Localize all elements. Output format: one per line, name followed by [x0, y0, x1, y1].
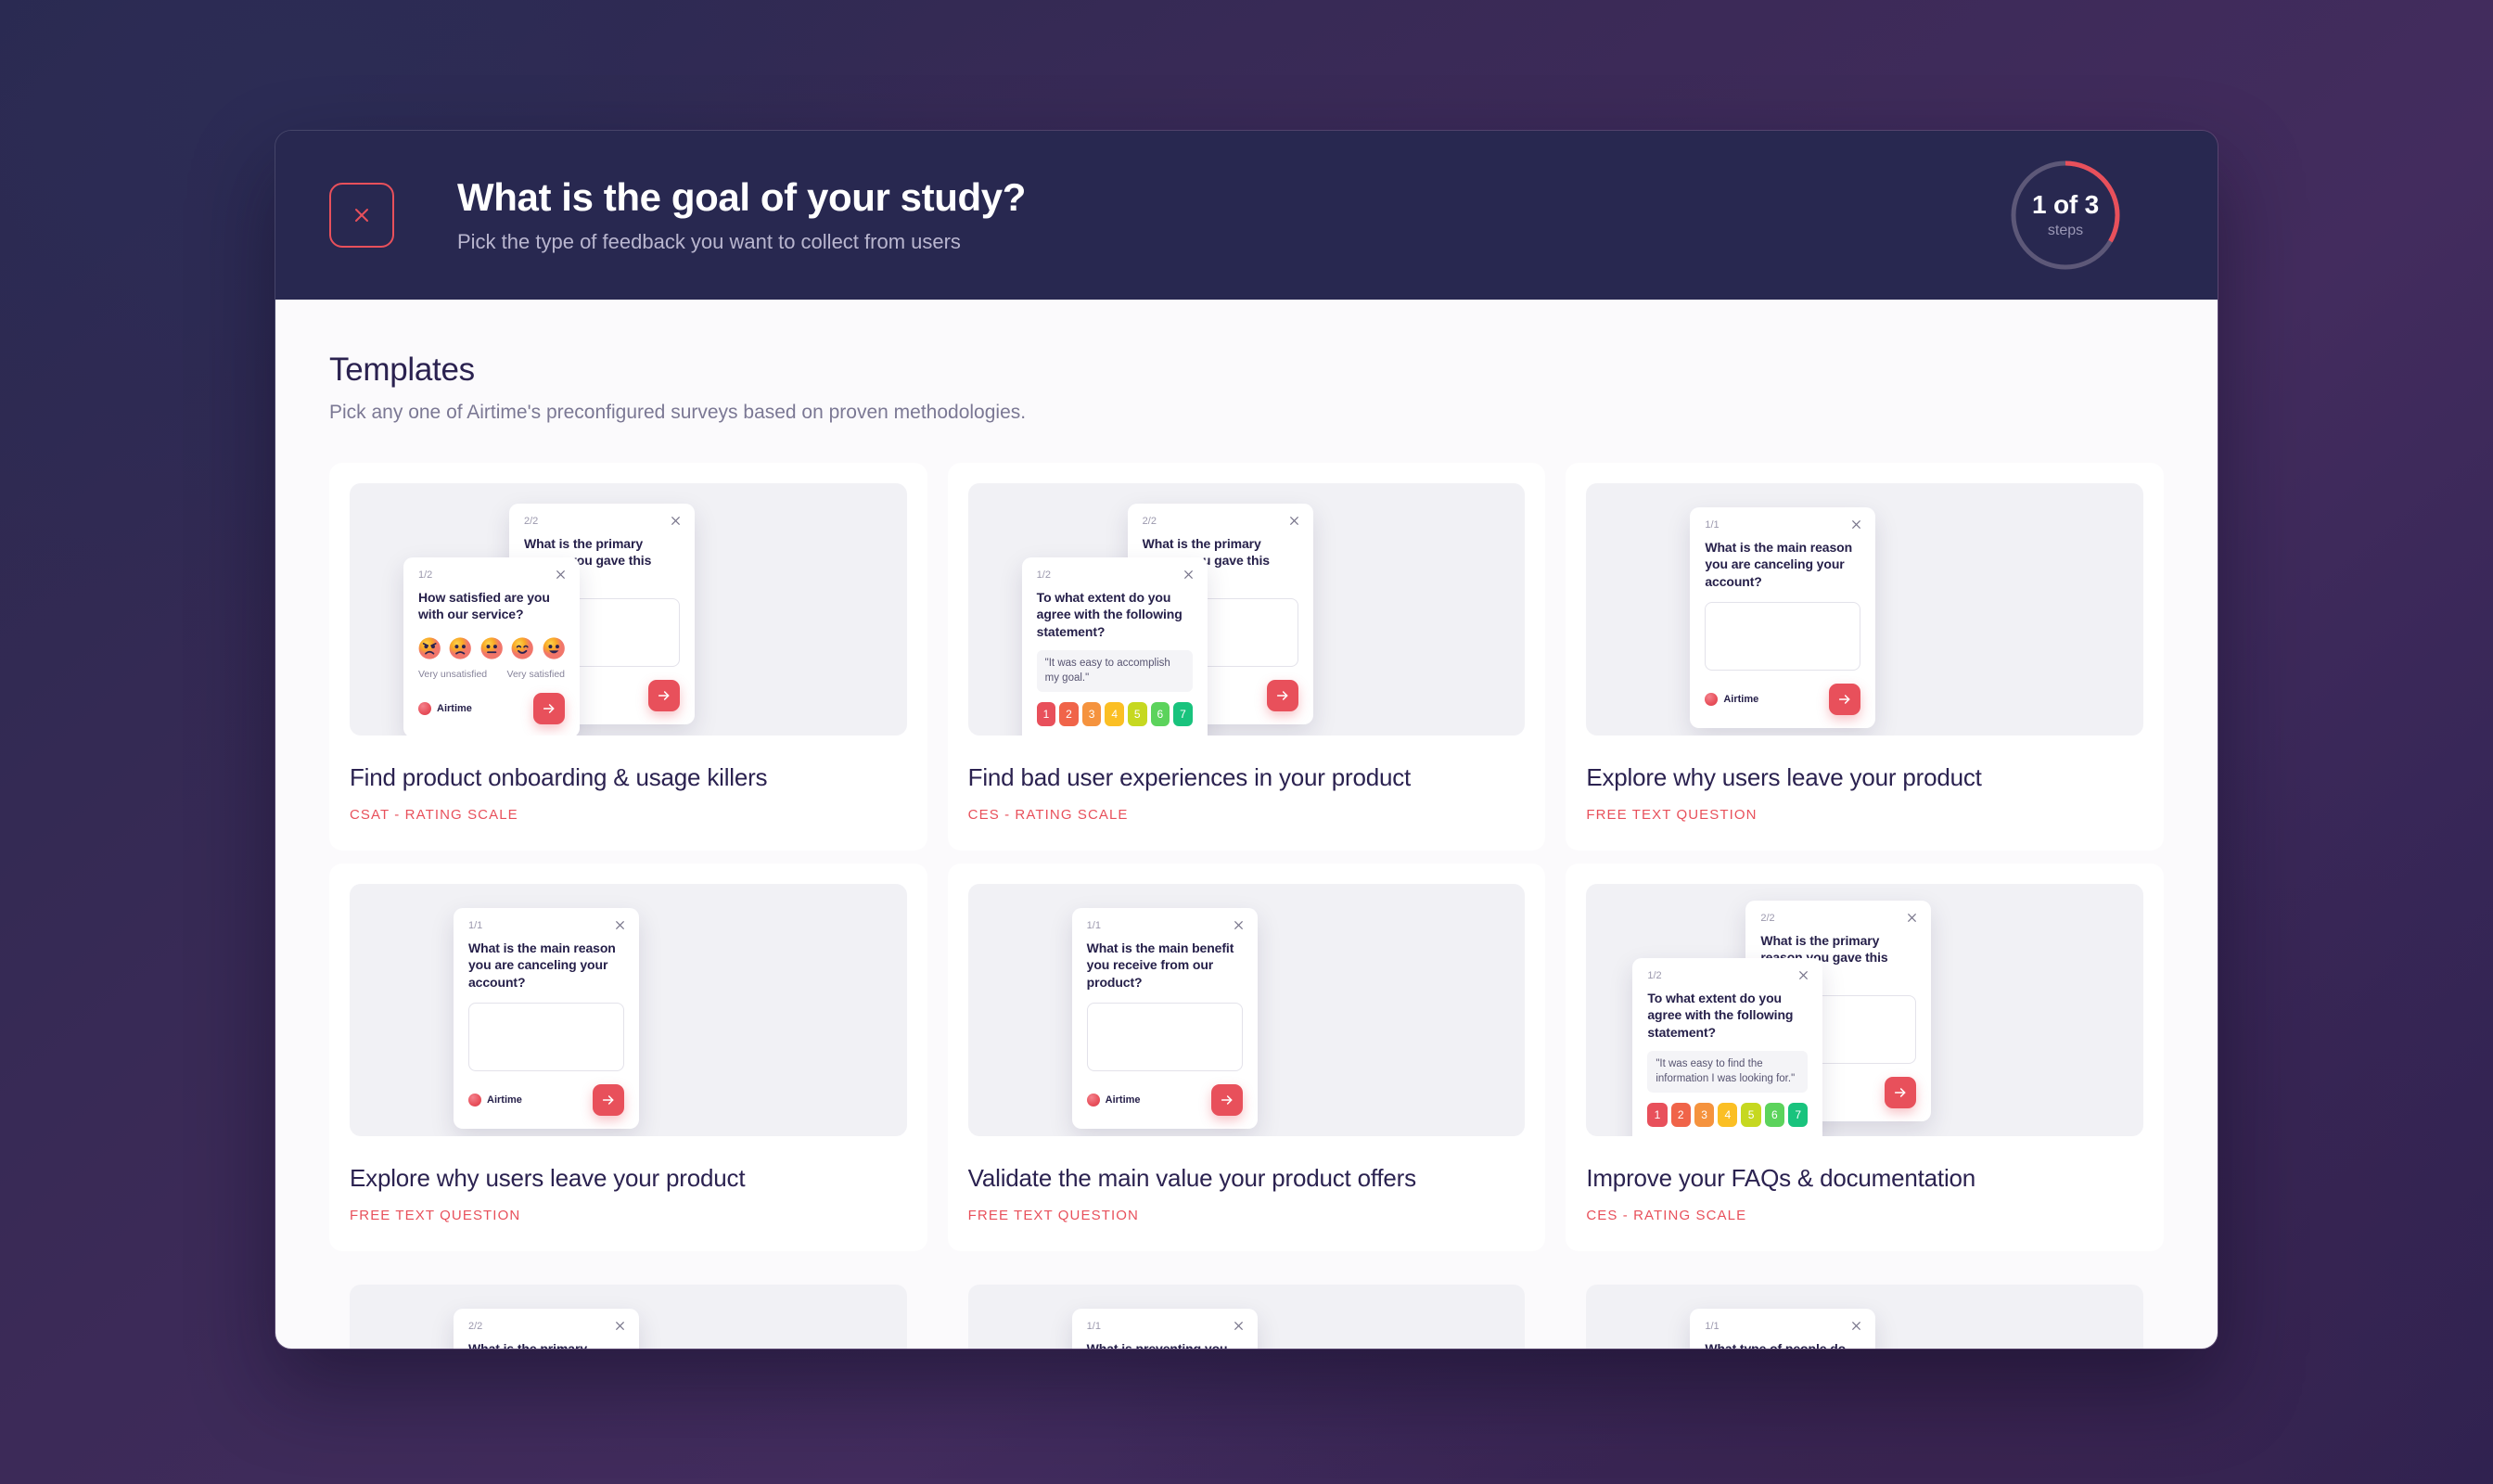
scale-low-label: Strongly disagree	[1037, 735, 1113, 736]
brand-name: Airtime	[487, 1094, 522, 1106]
template-grid: 2/2What is the primary reason you gave t…	[329, 463, 2164, 1349]
mini-card-step: 1/2	[1647, 971, 1808, 981]
template-tag: CSAT - RATING SCALE	[350, 807, 907, 823]
mini-card-step: 1/1	[1087, 1322, 1243, 1332]
arrow-right-icon	[657, 688, 671, 703]
rating-option-1[interactable]: 1	[1647, 1103, 1667, 1127]
template-preview: 2/2What is the primary reason you gave t…	[350, 1285, 907, 1349]
airtime-brand: Airtime	[1705, 693, 1758, 706]
mini-card-step: 2/2	[1760, 914, 1916, 924]
rating-option-7[interactable]: 7	[1788, 1103, 1808, 1127]
template-card[interactable]: 2/2What is the primary reason you gave t…	[948, 463, 1546, 851]
template-tag: FREE TEXT QUESTION	[968, 1208, 1526, 1223]
close-button[interactable]	[329, 183, 394, 248]
ces-scale-captions: Strongly disagreeStrongly agree	[1647, 1135, 1808, 1136]
template-tag: FREE TEXT QUESTION	[1586, 807, 2143, 823]
mini-card-question: What is the main benefit you receive fro…	[1087, 940, 1243, 991]
mini-card-question: What is the primary reason you gave this…	[468, 1340, 624, 1349]
ces-rating-scale[interactable]: 1234567	[1647, 1103, 1808, 1127]
close-icon[interactable]	[1906, 912, 1918, 924]
next-button[interactable]	[1829, 684, 1860, 715]
rating-option-3[interactable]: 3	[1694, 1103, 1714, 1127]
mini-card-question: What type of people do you think would m…	[1705, 1340, 1860, 1349]
rating-option-5[interactable]: 5	[1741, 1103, 1760, 1127]
next-button[interactable]	[648, 680, 680, 711]
template-preview: 2/2What is the primary reason you gave t…	[350, 483, 907, 736]
close-icon	[351, 204, 373, 226]
modal-body: Templates Pick any one of Airtime's prec…	[275, 300, 2218, 1349]
answer-textarea[interactable]	[1087, 1003, 1243, 1071]
mini-card-footer: Airtime	[418, 693, 565, 724]
mini-card-footer: Airtime	[1087, 1084, 1243, 1116]
close-icon[interactable]	[1183, 569, 1195, 581]
brand-name: Airtime	[437, 703, 472, 714]
template-preview: 1/1What is the main reason you are cance…	[350, 884, 907, 1136]
airtime-brand: Airtime	[418, 702, 472, 715]
csat-emoji-scale[interactable]	[418, 636, 565, 660]
ces-statement: "It was easy to accomplish my goal."	[1037, 650, 1193, 692]
mini-survey-card[interactable]: 1/1What is preventing you from upgrading…	[1072, 1309, 1258, 1349]
answer-textarea[interactable]	[468, 1003, 624, 1071]
close-icon[interactable]	[614, 1320, 626, 1332]
template-card[interactable]: 1/1What is the main reason you are cance…	[1566, 463, 2164, 851]
template-preview: 2/2What is the primary reason you gave t…	[968, 483, 1526, 736]
scale-high-label: Very satisfied	[507, 669, 565, 680]
step-progress-ring: 1 of 3 steps	[2006, 156, 2125, 275]
close-icon[interactable]	[1233, 1320, 1245, 1332]
mini-survey-card[interactable]: 1/1What is the main reason you are cance…	[454, 908, 639, 1129]
page-subtitle: Pick the type of feedback you want to co…	[457, 230, 2164, 254]
rating-option-2[interactable]: 2	[1059, 702, 1079, 726]
rating-option-4[interactable]: 4	[1718, 1103, 1737, 1127]
emoji-smiling-icon[interactable]	[511, 636, 533, 660]
mini-card-step: 2/2	[468, 1322, 624, 1332]
airtime-logo-icon	[1705, 693, 1718, 706]
step-count-label: 1 of 3	[2032, 192, 2099, 218]
scale-low-label: Strongly disagree	[1647, 1135, 1723, 1136]
template-title: Improve your FAQs & documentation	[1586, 1164, 2143, 1193]
template-preview: 1/1What is the main benefit you receive …	[968, 884, 1526, 1136]
mini-card-step: 1/1	[1705, 520, 1860, 531]
close-icon[interactable]	[670, 515, 682, 527]
close-icon[interactable]	[555, 569, 567, 581]
template-card[interactable]: 1/1What is the main reason you are cance…	[329, 864, 927, 1251]
close-icon[interactable]	[614, 919, 626, 931]
airtime-logo-icon	[418, 702, 431, 715]
rating-option-4[interactable]: 4	[1105, 702, 1124, 726]
template-title: Find product onboarding & usage killers	[350, 763, 907, 792]
rating-option-6[interactable]: 6	[1765, 1103, 1784, 1127]
template-card[interactable]: 1/1What is the main benefit you receive …	[948, 864, 1546, 1251]
next-button[interactable]	[1267, 680, 1298, 711]
mini-survey-card[interactable]: 1/2To what extent do you agree with the …	[1022, 557, 1208, 736]
emoji-angry-icon[interactable]	[418, 636, 441, 660]
csat-scale-captions: Very unsatisfiedVery satisfied	[418, 669, 565, 680]
template-card[interactable]: 1/1What type of people do you think woul…	[1566, 1264, 2164, 1349]
mini-survey-card[interactable]: 1/1What is the main benefit you receive …	[1072, 908, 1258, 1129]
template-title: Validate the main value your product off…	[968, 1164, 1526, 1193]
page-title: What is the goal of your study?	[457, 175, 2164, 220]
rating-option-5[interactable]: 5	[1128, 702, 1147, 726]
emoji-frowning-icon[interactable]	[449, 636, 471, 660]
rating-option-6[interactable]: 6	[1151, 702, 1170, 726]
brand-name: Airtime	[1106, 1094, 1141, 1106]
scale-low-label: Very unsatisfied	[418, 669, 487, 680]
section-title: Templates	[329, 352, 2164, 389]
mini-card-step: 1/1	[1087, 921, 1243, 931]
scale-high-label: Strongly agree	[1745, 1135, 1808, 1136]
mini-card-footer: Airtime	[468, 1084, 624, 1116]
mini-card-question: To what extent do you agree with the fol…	[1647, 990, 1808, 1041]
rating-option-3[interactable]: 3	[1082, 702, 1102, 726]
template-preview: 2/2What is the primary reason you gave t…	[1586, 884, 2143, 1136]
template-card[interactable]: 2/2What is the primary reason you gave t…	[329, 463, 927, 851]
step-unit-label: steps	[2032, 224, 2099, 238]
close-icon[interactable]	[1797, 969, 1809, 981]
airtime-brand: Airtime	[1087, 1094, 1141, 1107]
mini-card-question: What is the main reason you are cancelin…	[468, 940, 624, 991]
brand-name: Airtime	[1723, 694, 1758, 705]
template-tag: CES - RATING SCALE	[968, 807, 1526, 823]
airtime-logo-icon	[468, 1094, 481, 1107]
template-title: Explore why users leave your product	[350, 1164, 907, 1193]
next-button[interactable]	[533, 693, 565, 724]
mini-card-step: 2/2	[524, 517, 680, 527]
mini-card-footer: Airtime	[1705, 684, 1860, 715]
template-preview: 1/1What is preventing you from upgrading…	[968, 1285, 1526, 1349]
arrow-right-icon	[542, 701, 556, 716]
rating-option-7[interactable]: 7	[1173, 702, 1193, 726]
mini-card-question: How satisfied are you with our service?	[418, 589, 565, 623]
arrow-right-icon	[1893, 1085, 1908, 1100]
next-button[interactable]	[593, 1084, 624, 1116]
template-preview: 1/1What type of people do you think woul…	[1586, 1285, 2143, 1349]
scale-high-label: Strongly agree	[1129, 735, 1192, 736]
mini-survey-card[interactable]: 1/1What type of people do you think woul…	[1690, 1309, 1875, 1349]
mini-card-step: 1/2	[418, 570, 565, 581]
template-tag: CES - RATING SCALE	[1586, 1208, 2143, 1223]
mini-card-step: 1/2	[1037, 570, 1193, 581]
template-card[interactable]: 2/2What is the primary reason you gave t…	[1566, 864, 2164, 1251]
template-preview: 1/1What is the main reason you are cance…	[1586, 483, 2143, 736]
airtime-logo-icon	[1087, 1094, 1100, 1107]
ces-rating-scale[interactable]: 1234567	[1037, 702, 1193, 726]
close-icon[interactable]	[1233, 919, 1245, 931]
next-button[interactable]	[1211, 1084, 1243, 1116]
ces-statement: "It was easy to find the information I w…	[1647, 1051, 1808, 1093]
template-title: Find bad user experiences in your produc…	[968, 763, 1526, 792]
template-tag: FREE TEXT QUESTION	[350, 1208, 907, 1223]
close-icon[interactable]	[1850, 1320, 1862, 1332]
mini-card-question: What is the main reason you are cancelin…	[1705, 539, 1860, 590]
modal-header: What is the goal of your study? Pick the…	[275, 131, 2218, 300]
answer-textarea[interactable]	[1705, 602, 1860, 671]
mini-survey-card[interactable]: 1/1What is the main reason you are cance…	[1690, 507, 1875, 728]
mini-card-question: What is preventing you from upgrading to…	[1087, 1340, 1243, 1349]
mini-card-question: To what extent do you agree with the fol…	[1037, 589, 1193, 640]
mini-survey-card[interactable]: 1/2How satisfied are you with our servic…	[403, 557, 580, 736]
study-goal-modal: What is the goal of your study? Pick the…	[275, 130, 2218, 1350]
mini-survey-card[interactable]: 1/2To what extent do you agree with the …	[1632, 958, 1822, 1136]
close-icon[interactable]	[1288, 515, 1300, 527]
header-text-group: What is the goal of your study? Pick the…	[457, 175, 2164, 255]
mini-card-step: 1/1	[1705, 1322, 1860, 1332]
arrow-right-icon	[1837, 692, 1852, 707]
arrow-right-icon	[1220, 1093, 1234, 1107]
rating-option-2[interactable]: 2	[1671, 1103, 1691, 1127]
close-icon[interactable]	[1850, 518, 1862, 531]
template-card[interactable]: 2/2What is the primary reason you gave t…	[329, 1264, 927, 1349]
next-button[interactable]	[1885, 1077, 1916, 1108]
emoji-neutral-icon[interactable]	[480, 636, 503, 660]
template-title: Explore why users leave your product	[1586, 763, 2143, 792]
rating-option-1[interactable]: 1	[1037, 702, 1056, 726]
ces-scale-captions: Strongly disagreeStrongly agree	[1037, 735, 1193, 736]
emoji-grinning-icon[interactable]	[543, 636, 565, 660]
mini-card-step: 1/1	[468, 921, 624, 931]
arrow-right-icon	[601, 1093, 616, 1107]
airtime-brand: Airtime	[468, 1094, 522, 1107]
arrow-right-icon	[1275, 688, 1290, 703]
template-card[interactable]: 1/1What is preventing you from upgrading…	[948, 1264, 1546, 1349]
mini-card-step: 2/2	[1143, 517, 1298, 527]
section-subtitle: Pick any one of Airtime's preconfigured …	[329, 402, 2164, 424]
mini-survey-card[interactable]: 2/2What is the primary reason you gave t…	[454, 1309, 639, 1349]
